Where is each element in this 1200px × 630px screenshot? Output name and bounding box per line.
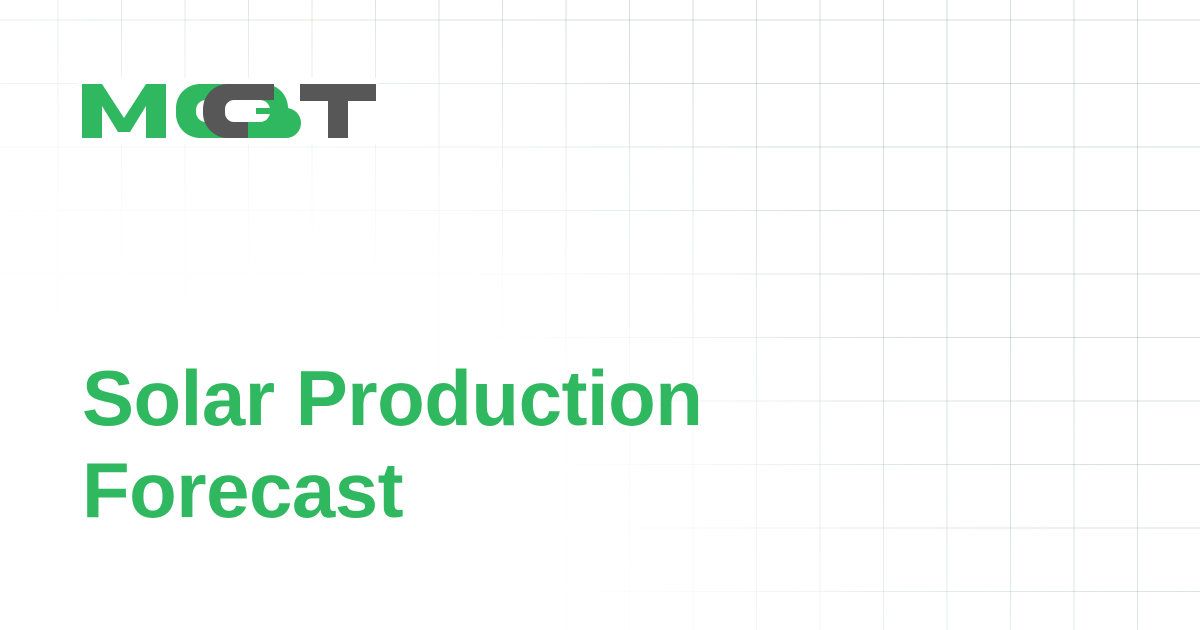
mcost-logo-icon	[78, 78, 378, 144]
og-card: Solar Production Forecast	[0, 0, 1200, 630]
page-title: Solar Production Forecast	[82, 352, 842, 536]
brand-logo[interactable]	[78, 78, 378, 144]
